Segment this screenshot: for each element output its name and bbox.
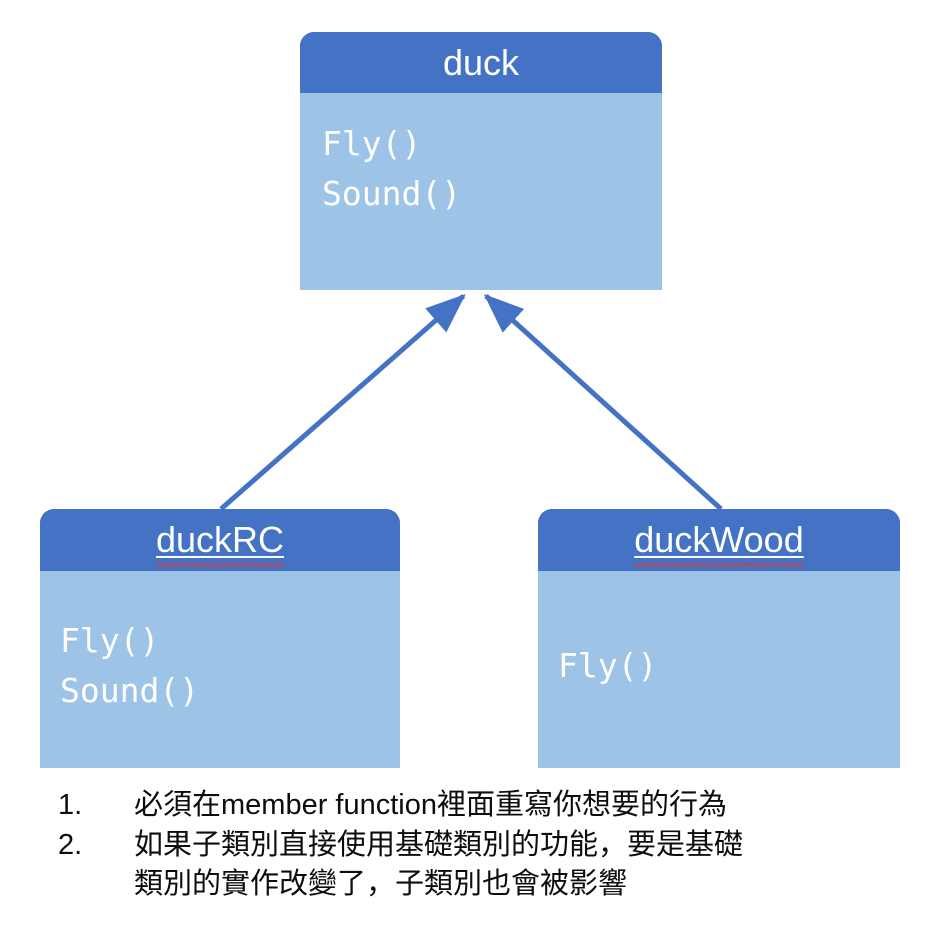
note-number-2: 2. — [46, 826, 134, 866]
class-header-duckwood: duckWood — [538, 509, 900, 571]
diagram-canvas: duck Fly() Sound() duckRC Fly() Sound() … — [0, 0, 939, 940]
class-header-duckrc: duckRC — [40, 509, 400, 571]
class-methods-duckrc: Fly() Sound() — [60, 616, 400, 716]
class-box-duckwood[interactable]: duckWood Fly() — [538, 509, 900, 768]
class-box-duckrc[interactable]: duckRC Fly() Sound() — [40, 509, 400, 768]
class-body-duckrc: Fly() Sound() — [40, 571, 400, 768]
note-item-1: 1. 必須在member function裡面重寫你想要的行為 — [46, 786, 926, 826]
notes-list: 1. 必須在member function裡面重寫你想要的行為 2. 如果子類別… — [46, 786, 926, 905]
connector-duckrc-to-duck — [221, 296, 464, 509]
class-body-duckwood: Fly() — [538, 571, 900, 768]
class-box-duck[interactable]: duck Fly() Sound() — [300, 32, 662, 290]
note-line-2-2: 類別的實作改變了，子類別也會被影響 — [134, 865, 926, 905]
note-number-1: 1. — [46, 786, 134, 826]
note-line-2-1: 如果子類別直接使用基礎類別的功能，要是基礎 — [134, 829, 743, 861]
class-body-duck: Fly() Sound() — [300, 93, 662, 290]
class-title-duckrc: duckRC — [156, 522, 284, 558]
connector-duckwood-to-duck — [486, 296, 721, 509]
note-body-2: 如果子類別直接使用基礎類別的功能，要是基礎 類別的實作改變了，子類別也會被影響 — [134, 826, 926, 905]
note-line-1-1: 必須在member function裡面重寫你想要的行為 — [134, 789, 727, 821]
class-header-duck: duck — [300, 32, 662, 93]
class-title-duck: duck — [443, 45, 519, 81]
note-item-2: 2. 如果子類別直接使用基礎類別的功能，要是基礎 類別的實作改變了，子類別也會被… — [46, 826, 926, 905]
class-methods-duck: Fly() Sound() — [322, 119, 662, 219]
class-methods-duckwood: Fly() — [558, 641, 900, 691]
note-body-1: 必須在member function裡面重寫你想要的行為 — [134, 786, 926, 826]
class-title-duckwood: duckWood — [634, 522, 803, 558]
